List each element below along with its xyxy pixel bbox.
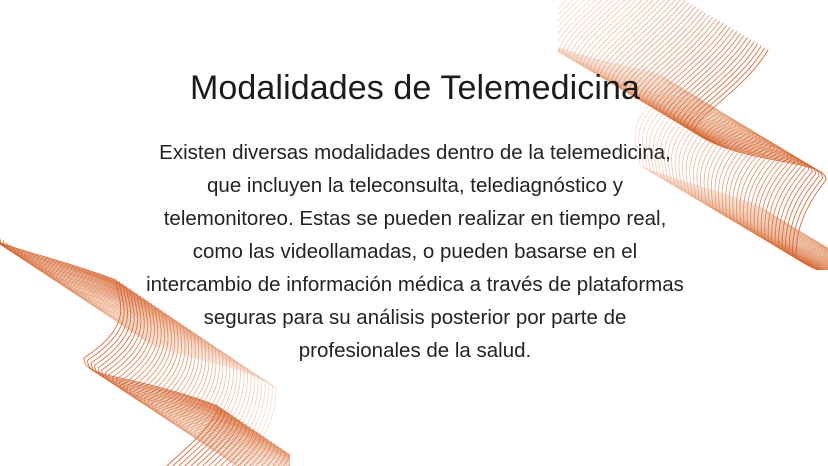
slide-body-line: seguras para su análisis posterior por p… xyxy=(104,301,726,334)
slide-canvas: Modalidades de Telemedicina Existen dive… xyxy=(0,0,828,466)
slide-body-line: que incluyen la teleconsulta, telediagnó… xyxy=(104,169,726,202)
slide-body-line: como las videollamadas, o pueden basarse… xyxy=(104,235,726,268)
slide-content: Modalidades de Telemedicina Existen dive… xyxy=(0,0,828,466)
slide-body-line: profesionales de la salud. xyxy=(104,334,726,367)
slide-body-line: Existen diversas modalidades dentro de l… xyxy=(104,136,726,169)
page-title: Modalidades de Telemedicina xyxy=(110,67,720,109)
slide-body-line: intercambio de información médica a trav… xyxy=(104,268,726,301)
slide-body-line: telemonitoreo. Estas se pueden realizar … xyxy=(104,202,726,235)
slide-body-text: Existen diversas modalidades dentro de l… xyxy=(104,136,726,367)
